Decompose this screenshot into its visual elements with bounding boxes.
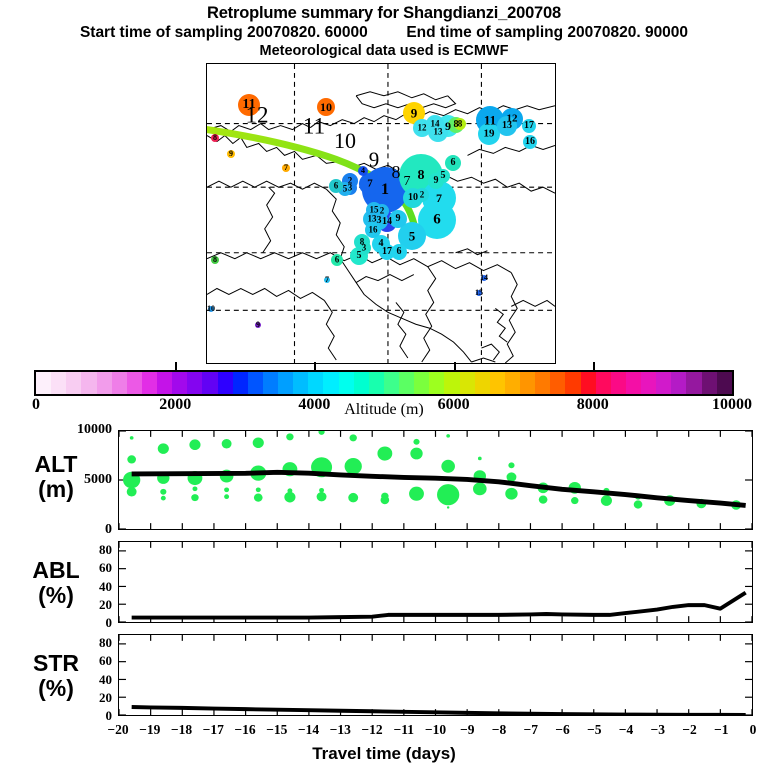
colorbar-tick xyxy=(175,362,177,370)
x-tick-label: −3 xyxy=(651,722,665,738)
colorbar-tick xyxy=(454,362,456,370)
x-tick-label: −13 xyxy=(330,722,351,738)
x-tick-label: −12 xyxy=(361,722,382,738)
y-tick-label: 40 xyxy=(40,579,112,595)
x-tick-label: −4 xyxy=(619,722,633,738)
y-tick-label: 5000 xyxy=(40,472,112,488)
colorbar-segment xyxy=(172,372,187,394)
retroplume-map[interactable]: 1110981214139811121319171668591027617235… xyxy=(206,63,556,364)
colorbar xyxy=(34,370,734,396)
colorbar-segment xyxy=(550,372,565,394)
colorbar-segment xyxy=(81,372,96,394)
colorbar-segment xyxy=(218,372,233,394)
colorbar-segment xyxy=(686,372,701,394)
str-panel[interactable] xyxy=(118,634,753,716)
colorbar-segment xyxy=(414,372,429,394)
colorbar-segment xyxy=(323,372,338,394)
colorbar-tick xyxy=(593,362,595,370)
colorbar-segment xyxy=(626,372,641,394)
colorbar-segment xyxy=(157,372,172,394)
y-tick-label: 60 xyxy=(40,560,112,576)
colorbar-segment xyxy=(142,372,157,394)
x-axis-title: Travel time (days) xyxy=(0,744,768,764)
x-tick-label: −19 xyxy=(139,722,160,738)
colorbar-segment xyxy=(641,372,656,394)
y-tick-label: 20 xyxy=(40,597,112,613)
trajectory-day-label: 10 xyxy=(334,130,356,152)
trajectory-day-label: 9 xyxy=(369,150,380,171)
x-tick-label: −9 xyxy=(460,722,474,738)
colorbar-segment xyxy=(51,372,66,394)
met-data-label: Meteorological data used is ECMWF xyxy=(0,42,768,60)
x-tick-label: −8 xyxy=(492,722,506,738)
y-tick-label: 60 xyxy=(40,653,112,669)
x-tick-label: −15 xyxy=(266,722,287,738)
x-tick-label: −14 xyxy=(298,722,319,738)
page-title: Retroplume summary for Shangdianzi_20070… xyxy=(0,3,768,23)
y-tick-label: 10000 xyxy=(40,422,112,438)
y-tick-label: 40 xyxy=(40,672,112,688)
alt-plot xyxy=(119,431,752,529)
alt-panel[interactable] xyxy=(118,430,753,530)
colorbar-segment xyxy=(369,372,384,394)
colorbar-segment xyxy=(112,372,127,394)
trajectory-day-label: 12 xyxy=(246,104,269,127)
abl-panel[interactable] xyxy=(118,541,753,623)
colorbar-segment xyxy=(611,372,626,394)
colorbar-segment xyxy=(490,372,505,394)
y-tick-label: 20 xyxy=(40,690,112,706)
abl-plot xyxy=(119,542,752,622)
colorbar-ticks xyxy=(34,362,734,370)
trajectory-day-label: 8 xyxy=(392,163,401,181)
y-tick-label: 0 xyxy=(40,615,112,631)
colorbar-segment xyxy=(308,372,323,394)
colorbar-segment xyxy=(127,372,142,394)
colorbar-segment xyxy=(278,372,293,394)
colorbar-segment xyxy=(565,372,580,394)
start-time-label: Start time of sampling 20070820. 60000 xyxy=(80,24,368,41)
figure-root: Retroplume summary for Shangdianzi_20070… xyxy=(0,0,768,768)
colorbar-segment xyxy=(202,372,217,394)
end-time-label: End time of sampling 20070820. 90000 xyxy=(406,24,688,41)
colorbar-segment xyxy=(293,372,308,394)
trajectory-day-label: 7 xyxy=(404,175,411,189)
colorbar-segment xyxy=(187,372,202,394)
colorbar-segment xyxy=(263,372,278,394)
x-tick-label: −11 xyxy=(394,722,414,738)
colorbar-segment xyxy=(460,372,475,394)
x-tick-label: −6 xyxy=(555,722,569,738)
x-tick-label: −16 xyxy=(234,722,255,738)
colorbar-segment xyxy=(339,372,354,394)
colorbar-segment xyxy=(36,372,51,394)
x-tick-label: 0 xyxy=(750,722,757,738)
colorbar-tick xyxy=(314,362,316,370)
colorbar-segment xyxy=(248,372,263,394)
title-block: Retroplume summary for Shangdianzi_20070… xyxy=(0,0,768,60)
colorbar-segment xyxy=(656,372,671,394)
colorbar-title: Altitude (m) xyxy=(0,401,768,419)
x-tick-label: −1 xyxy=(714,722,728,738)
colorbar-segment xyxy=(429,372,444,394)
colorbar-segment xyxy=(384,372,399,394)
x-tick-label: −5 xyxy=(587,722,601,738)
y-tick-label: 0 xyxy=(40,708,112,724)
x-tick-label: −18 xyxy=(171,722,192,738)
y-tick-label: 0 xyxy=(40,522,112,538)
colorbar-segment xyxy=(702,372,717,394)
x-tick-label: −2 xyxy=(682,722,696,738)
colorbar-segment xyxy=(444,372,459,394)
colorbar-segment xyxy=(535,372,550,394)
colorbar-segment xyxy=(505,372,520,394)
sampling-time-row: Start time of sampling 20070820. 60000 E… xyxy=(0,23,768,42)
colorbar-segment xyxy=(399,372,414,394)
x-tick-label: −17 xyxy=(203,722,224,738)
colorbar-segment xyxy=(475,372,490,394)
y-tick-label: 80 xyxy=(40,635,112,651)
y-tick-label: 80 xyxy=(40,542,112,558)
colorbar-segment xyxy=(354,372,369,394)
colorbar-segment xyxy=(581,372,596,394)
colorbar-segment xyxy=(233,372,248,394)
str-plot xyxy=(119,635,752,715)
x-tick-label: −10 xyxy=(425,722,446,738)
colorbar-segment xyxy=(97,372,112,394)
x-tick-label: −7 xyxy=(524,722,538,738)
x-tick-label: −20 xyxy=(107,722,128,738)
colorbar-segment xyxy=(66,372,81,394)
colorbar-segment xyxy=(717,372,732,394)
colorbar-wrap: 0200040006000800010000 xyxy=(34,370,734,396)
trajectory-day-label: 11 xyxy=(303,115,325,138)
colorbar-segment xyxy=(596,372,611,394)
colorbar-segment xyxy=(520,372,535,394)
colorbar-segment xyxy=(671,372,686,394)
